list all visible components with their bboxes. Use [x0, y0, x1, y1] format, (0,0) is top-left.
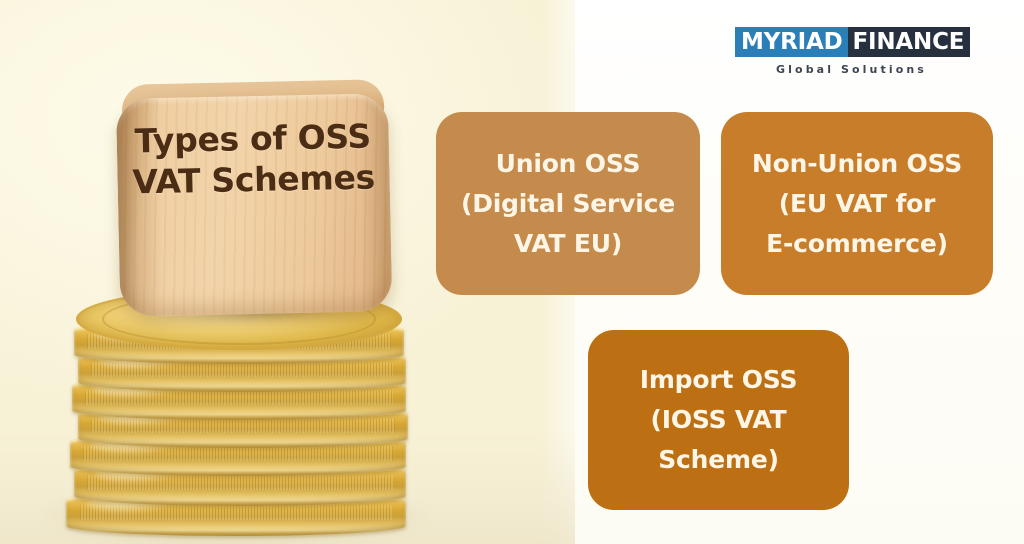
hero-title: Types of OSS VAT Schemes: [116, 115, 390, 203]
brand-logo[interactable]: MYRIAD FINANCE Global Solutions: [735, 27, 968, 76]
infographic-canvas: Types of OSS VAT Schemes MYRIAD FINANCE …: [0, 0, 1024, 544]
union-oss-card[interactable]: Union OSS (Digital Service VAT EU): [436, 112, 700, 295]
logo-finance-text: FINANCE: [848, 27, 971, 57]
logo-tagline: Global Solutions: [735, 63, 968, 76]
import-oss-card[interactable]: Import OSS (IOSS VAT Scheme): [588, 330, 849, 510]
logo-myriad-text: MYRIAD: [735, 27, 848, 57]
non-union-oss-card-label: Non-Union OSS (EU VAT for E-commerce): [738, 144, 976, 264]
wooden-title-block: Types of OSS VAT Schemes: [116, 79, 393, 317]
logo-wordmark: MYRIAD FINANCE: [735, 27, 968, 57]
non-union-oss-card[interactable]: Non-Union OSS (EU VAT for E-commerce): [721, 112, 993, 295]
import-oss-card-label: Import OSS (IOSS VAT Scheme): [626, 360, 812, 480]
union-oss-card-label: Union OSS (Digital Service VAT EU): [447, 144, 689, 264]
